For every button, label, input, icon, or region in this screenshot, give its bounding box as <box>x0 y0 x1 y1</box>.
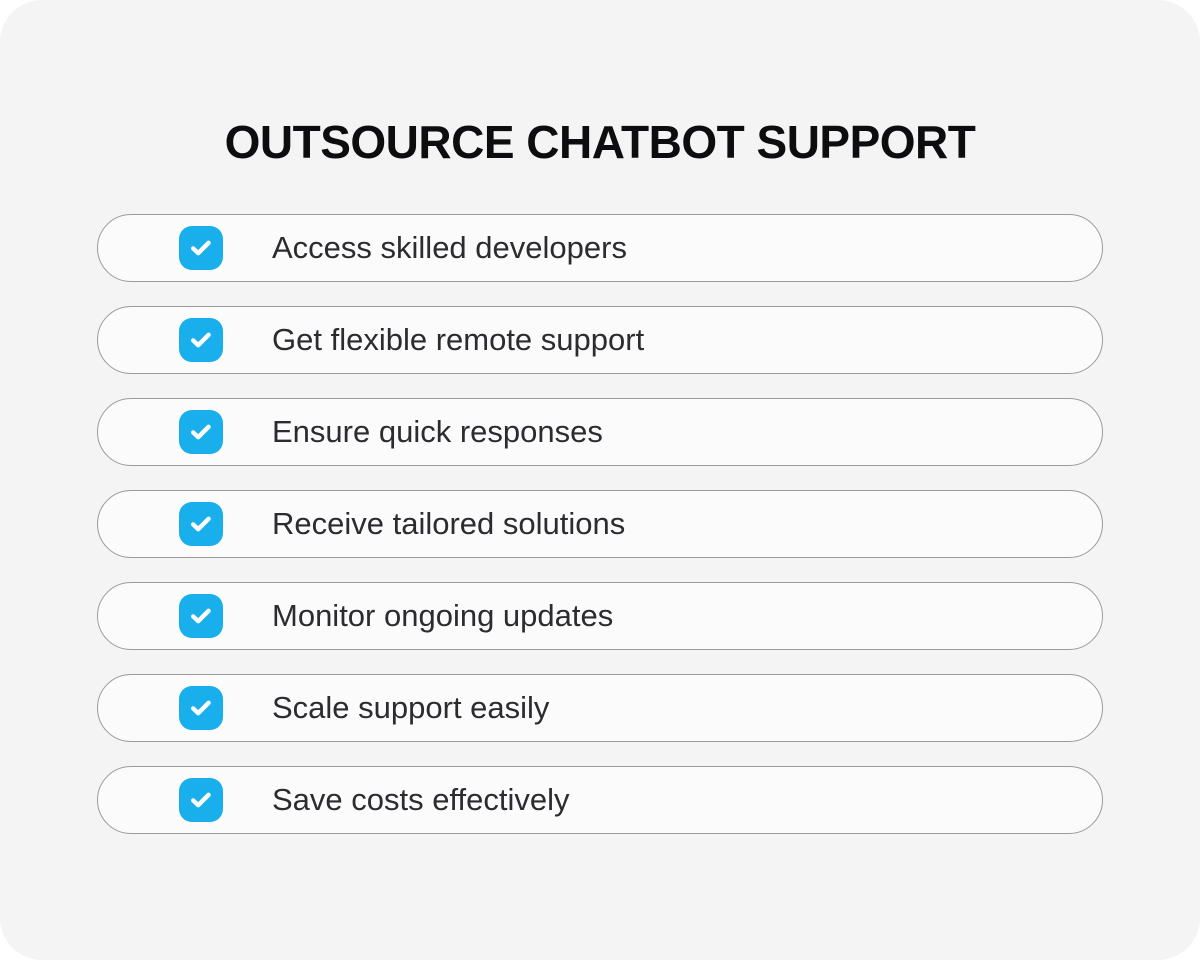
check-icon <box>187 326 215 354</box>
list-item-label: Monitor ongoing updates <box>272 596 613 636</box>
page-title: OUTSOURCE CHATBOT SUPPORT <box>0 112 1200 172</box>
checkbox-checked[interactable] <box>179 410 223 454</box>
list-item-label: Save costs effectively <box>272 780 570 820</box>
checklist-card: OUTSOURCE CHATBOT SUPPORT Access skilled… <box>0 0 1200 960</box>
list-item-label: Get flexible remote support <box>272 320 644 360</box>
list-item-label: Scale support easily <box>272 688 549 728</box>
list-item[interactable]: Access skilled developers <box>97 214 1103 282</box>
check-icon <box>187 786 215 814</box>
list-item-label: Access skilled developers <box>272 228 627 268</box>
check-icon <box>187 694 215 722</box>
checkbox-checked[interactable] <box>179 502 223 546</box>
check-icon <box>187 510 215 538</box>
checkbox-checked[interactable] <box>179 686 223 730</box>
checkbox-checked[interactable] <box>179 318 223 362</box>
list-item[interactable]: Monitor ongoing updates <box>97 582 1103 650</box>
list-item[interactable]: Receive tailored solutions <box>97 490 1103 558</box>
checkbox-checked[interactable] <box>179 778 223 822</box>
list-item[interactable]: Scale support easily <box>97 674 1103 742</box>
check-icon <box>187 234 215 262</box>
list-item-label: Receive tailored solutions <box>272 504 625 544</box>
list-item[interactable]: Save costs effectively <box>97 766 1103 834</box>
list-item[interactable]: Ensure quick responses <box>97 398 1103 466</box>
checkbox-checked[interactable] <box>179 226 223 270</box>
list-item-label: Ensure quick responses <box>272 412 603 452</box>
check-icon <box>187 418 215 446</box>
checklist: Access skilled developers Get flexible r… <box>97 214 1103 834</box>
check-icon <box>187 602 215 630</box>
list-item[interactable]: Get flexible remote support <box>97 306 1103 374</box>
checkbox-checked[interactable] <box>179 594 223 638</box>
